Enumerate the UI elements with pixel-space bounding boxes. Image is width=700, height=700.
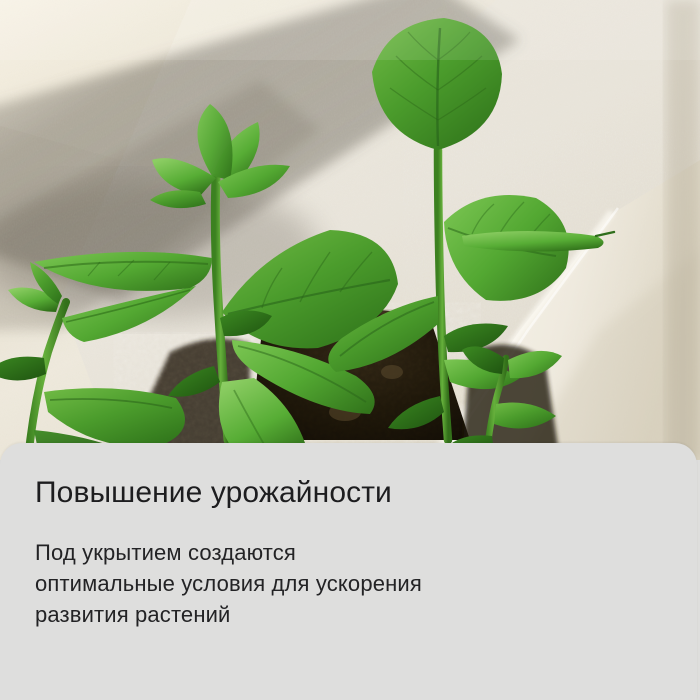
card-body-line-3: развития растений: [35, 599, 595, 630]
card-heading: Повышение урожайности: [35, 476, 669, 509]
seedlings-photo: [0, 0, 700, 460]
photo-illustration: [0, 0, 700, 460]
caption-card-content: Повышение урожайности Под укрытием созда…: [35, 476, 669, 631]
promo-image-root: Повышение урожайности Под укрытием созда…: [0, 0, 700, 700]
card-body-line-1: Под укрытием создаются: [35, 537, 595, 568]
card-body-line-2: оптимальные условия для ускорения: [35, 568, 595, 599]
fabric-right-edge-shade: [666, 0, 700, 460]
photo-top-light: [0, 0, 700, 60]
card-body: Под укрытием создаются оптимальные услов…: [35, 537, 595, 631]
caption-card: Повышение урожайности Под укрытием созда…: [0, 443, 697, 700]
